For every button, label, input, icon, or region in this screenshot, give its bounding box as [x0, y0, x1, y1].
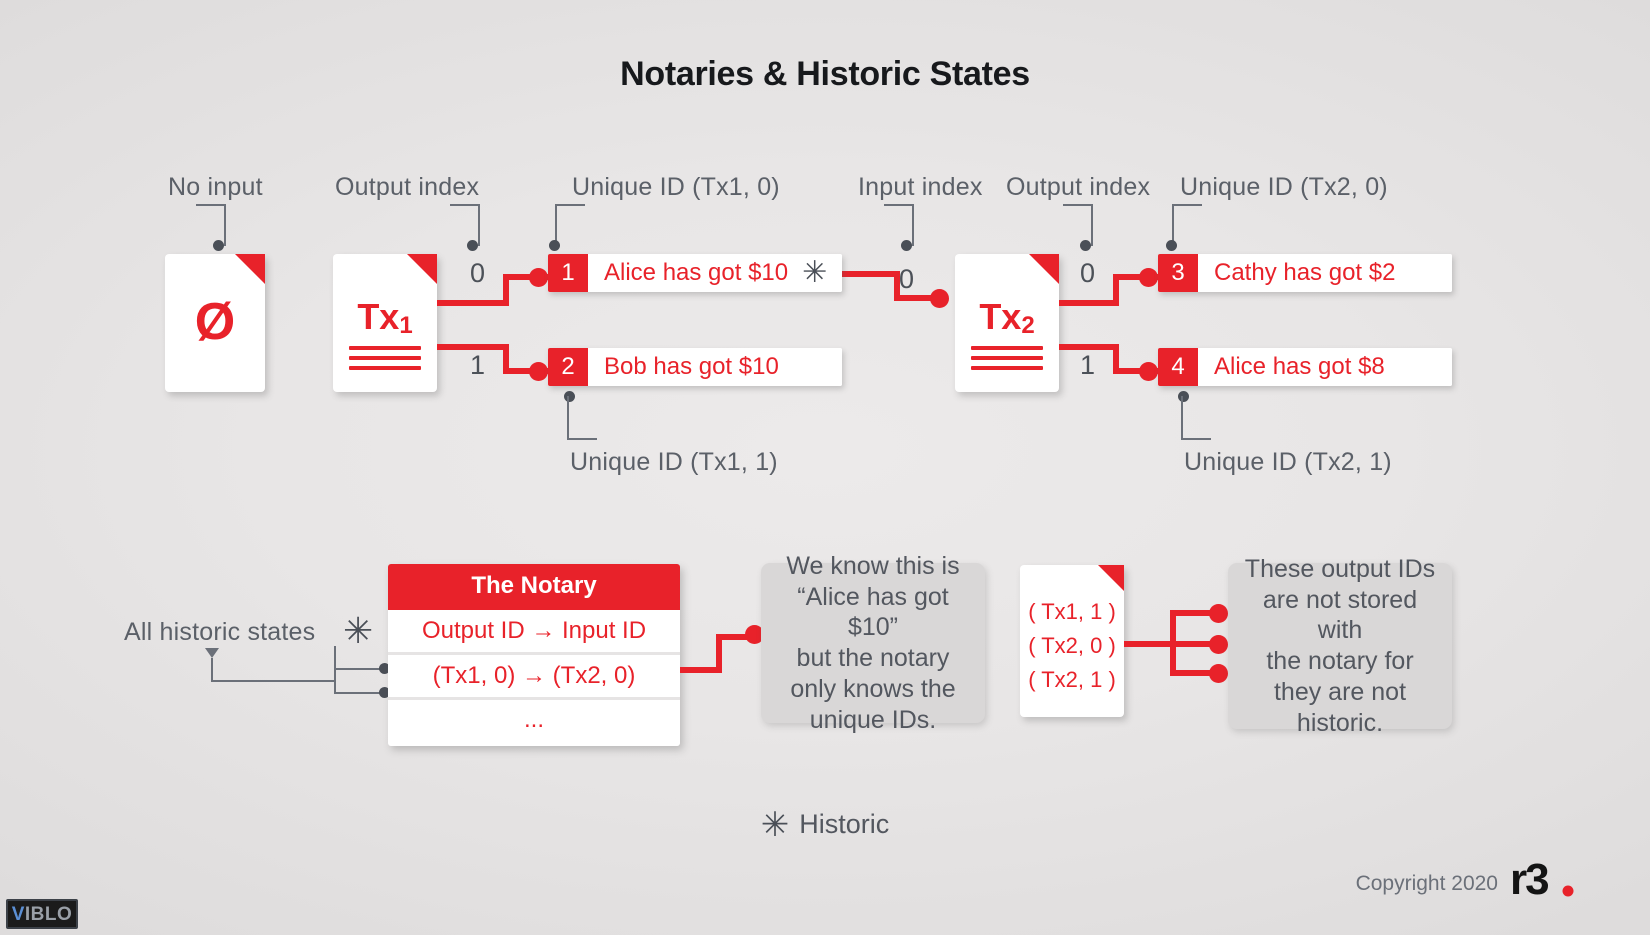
wire-dot-tx2-out0: [1139, 268, 1158, 287]
output-id-item: ( Tx2, 0 ): [1020, 629, 1124, 663]
wire-dot-right-note-3: [1209, 664, 1228, 683]
index-tx2-in-0: 0: [899, 264, 914, 295]
output-id-item: ( Tx2, 1 ): [1020, 663, 1124, 697]
state-text: Alice has got $8: [1214, 353, 1385, 381]
note-left-text: We know this is “Alice has got $10” but …: [775, 551, 971, 736]
callout-label-unique-id-tx1-1: Unique ID (Tx1, 1): [570, 448, 778, 477]
state-chip-3[interactable]: 3 Cathy has got $2: [1158, 254, 1452, 292]
note-right-text: These output IDs are not stored with the…: [1242, 554, 1438, 739]
callout-label-input-index-tx2: Input index: [858, 173, 983, 202]
state-chip-4[interactable]: 4 Alice has got $8: [1158, 348, 1452, 386]
svg-text:r3: r3: [1510, 858, 1548, 902]
note-right: These output IDs are not stored with the…: [1228, 563, 1452, 729]
wire-state1-out: [840, 271, 900, 277]
callout-label-output-index-tx2: Output index: [1006, 173, 1150, 202]
index-tx2-out-0: 0: [1080, 258, 1095, 289]
callout-label-all-historic-states: All historic states: [124, 618, 315, 647]
page-title: Notaries & Historic States: [0, 55, 1650, 94]
notary-table-header: The Notary: [388, 564, 680, 610]
r3-logo: r3: [1510, 858, 1628, 902]
notary-table-row: Output ID → Input ID: [388, 610, 680, 655]
page-fold-icon: [1029, 254, 1059, 284]
state-text: Alice has got $10: [604, 259, 788, 287]
state-chip-1[interactable]: 1 Alice has got $10 ✳: [548, 254, 842, 292]
leader-dot-unique-id-tx2-0: [1166, 240, 1177, 251]
leader-arrow-all-historic-states: [205, 648, 219, 658]
wire-dot-right-note-2: [1209, 635, 1228, 654]
document-output-ids-list: ( Tx1, 1 ) ( Tx2, 0 ) ( Tx2, 1 ): [1020, 595, 1124, 697]
wire-tx2-out-trunk: [1059, 300, 1119, 306]
leader-dot-output-index-tx1: [467, 240, 478, 251]
output-id-item: ( Tx1, 1 ): [1020, 595, 1124, 629]
callout-label-no-input: No input: [168, 173, 263, 202]
leader-unique-id-tx2-1: [1178, 396, 1210, 442]
leader-unique-id-tx2-0: [1172, 204, 1202, 248]
page-fold-icon: [407, 254, 437, 284]
leader-dot-unique-id-tx1-0: [549, 240, 560, 251]
leader-dot-no-input: [213, 240, 224, 251]
historic-star-icon: ✳: [761, 806, 790, 844]
leader-unique-id-tx1-1: [564, 396, 596, 442]
viblo-watermark-v: V: [12, 905, 25, 924]
index-tx1-out-1: 1: [470, 350, 485, 381]
callout-label-unique-id-tx2-0: Unique ID (Tx2, 0): [1180, 173, 1388, 202]
notary-table-row: (Tx1, 0) → (Tx2, 0): [388, 655, 680, 700]
copyright-text: Copyright 2020: [1356, 872, 1498, 896]
state-chip-body: Bob has got $10: [588, 348, 842, 386]
historic-star-icon: ✳: [343, 613, 373, 649]
diagram-canvas: Notaries & Historic States No input Outp…: [0, 0, 1650, 935]
viblo-watermark-rest: IBLO: [25, 905, 72, 924]
callout-label-unique-id-tx2-1: Unique ID (Tx2, 1): [1184, 448, 1392, 477]
document-output-ids: ( Tx1, 1 ) ( Tx2, 0 ) ( Tx2, 1 ): [1020, 565, 1124, 717]
document-tx2-label: Tx2: [955, 296, 1059, 340]
empty-set-icon: Ø: [165, 296, 265, 348]
page-fold-icon: [235, 254, 265, 284]
leader-dot-output-index-tx2: [1080, 240, 1091, 251]
note-left: We know this is “Alice has got $10” but …: [761, 563, 985, 723]
state-text: Bob has got $10: [604, 353, 779, 381]
wire-dot-right-note-1: [1209, 604, 1228, 623]
wire-dot-tx2-out1: [1139, 362, 1158, 381]
wire-dot-tx1-out0: [529, 268, 548, 287]
document-tx1-label: Tx1: [333, 296, 437, 340]
notary-table[interactable]: The Notary Output ID → Input ID (Tx1, 0)…: [388, 564, 680, 746]
state-index-badge: 1: [548, 254, 588, 292]
state-chip-body: Cathy has got $2: [1198, 254, 1452, 292]
index-tx1-out-0: 0: [470, 258, 485, 289]
notary-table-row: ...: [388, 700, 680, 746]
document-tx1: Tx1: [333, 254, 437, 392]
wire-tx1-out-trunk: [437, 300, 509, 306]
legend-label: Historic: [799, 809, 889, 839]
leader-dot-input-index-tx2: [901, 240, 912, 251]
callout-label-output-index-tx1: Output index: [335, 173, 479, 202]
state-index-badge: 3: [1158, 254, 1198, 292]
document-tx2: Tx2: [955, 254, 1059, 392]
index-tx2-out-1: 1: [1080, 350, 1095, 381]
state-chip-body: Alice has got $8: [1198, 348, 1452, 386]
page-fold-icon: [1098, 565, 1124, 591]
state-chip-body: Alice has got $10 ✳: [588, 254, 842, 292]
wire-dot-tx1-out1: [529, 362, 548, 381]
callout-label-unique-id-tx1-0: Unique ID (Tx1, 0): [572, 173, 780, 202]
leader-bracket-all-historic-states: [205, 658, 385, 718]
state-index-badge: 2: [548, 348, 588, 386]
viblo-watermark: VIBLO: [6, 899, 78, 929]
document-empty-input: Ø: [165, 254, 265, 392]
document-lines-icon: [971, 346, 1043, 376]
wire-outputs-trunk: [1124, 641, 1176, 647]
state-index-badge: 4: [1158, 348, 1198, 386]
state-chip-2[interactable]: 2 Bob has got $10: [548, 348, 842, 386]
document-lines-icon: [349, 346, 421, 376]
wire-dot-tx2-in0: [930, 289, 949, 308]
state-text: Cathy has got $2: [1214, 259, 1395, 287]
leader-unique-id-tx1-0: [555, 204, 585, 248]
legend: ✳Historic: [0, 805, 1650, 845]
